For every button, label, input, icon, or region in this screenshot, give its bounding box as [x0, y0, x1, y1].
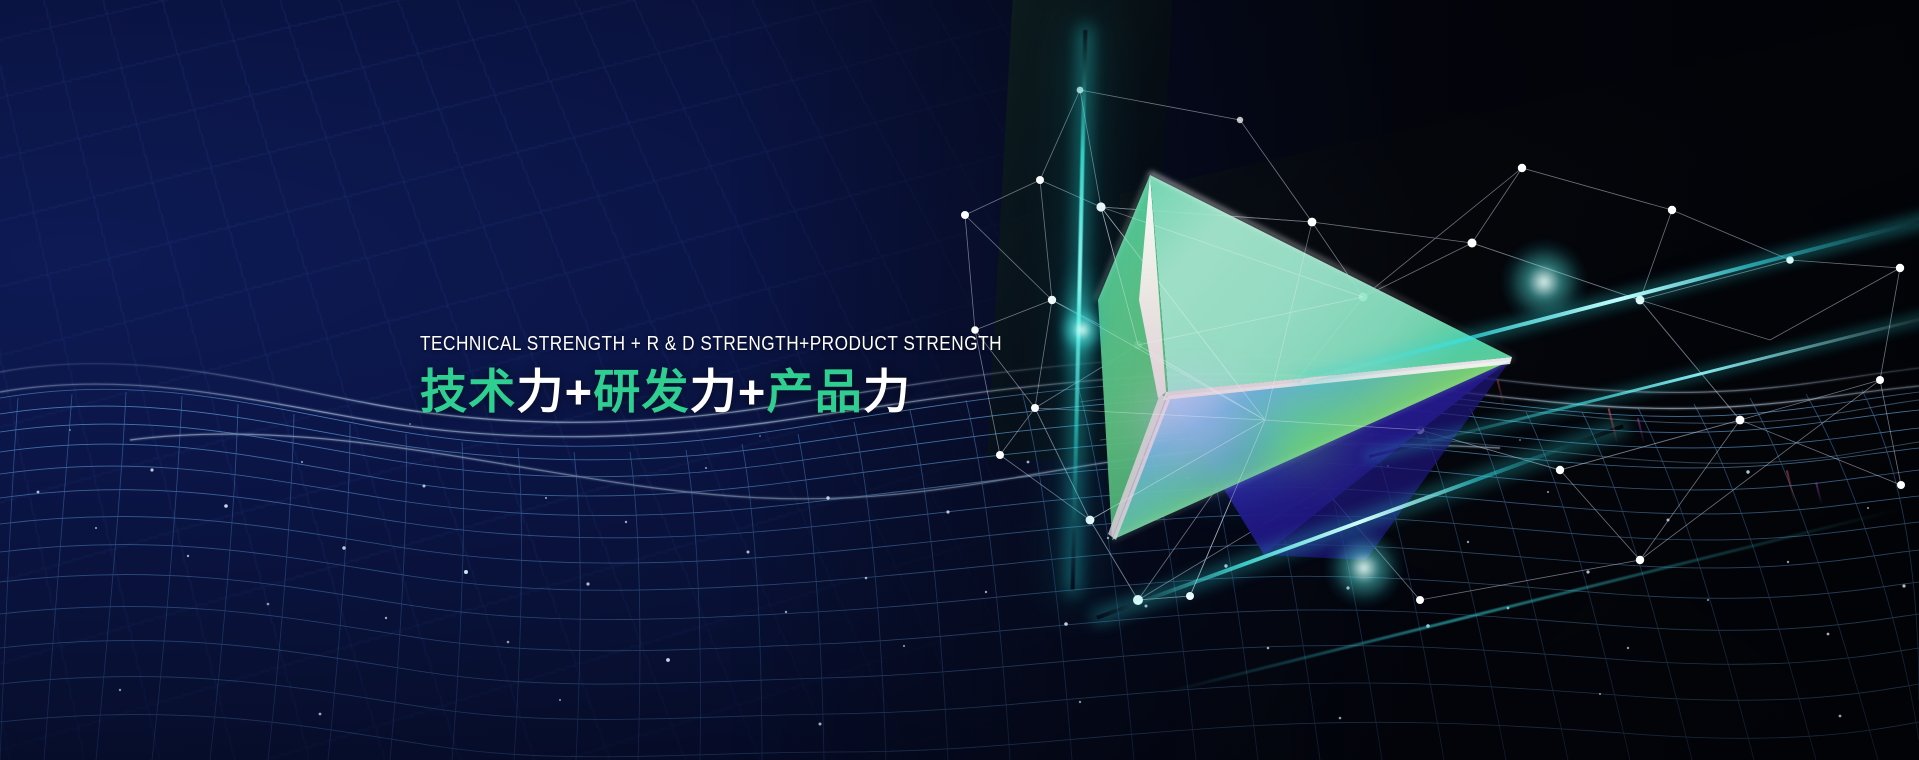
- headline-block: TECHNICAL STRENGTH + R & D STRENGTH+PROD…: [420, 332, 1113, 420]
- title-segment-2: +: [565, 365, 594, 418]
- hero-banner: TECHNICAL STRENGTH + R & D STRENGTH+PROD…: [0, 0, 1919, 760]
- lens-flare-lower-right: [1309, 513, 1419, 623]
- title-segment-4: 力: [690, 365, 738, 418]
- headline-title-chinese: 技术力+研发力+产品力: [420, 363, 1113, 420]
- title-segment-6: 产品: [767, 365, 863, 418]
- headline-eyebrow-english: TECHNICAL STRENGTH + R & D STRENGTH+PROD…: [420, 332, 1002, 356]
- title-segment-5: +: [738, 365, 767, 418]
- title-segment-7: 力: [863, 365, 911, 418]
- title-segment-1: 力: [516, 365, 564, 418]
- lens-flare-upper-right: [1484, 222, 1604, 342]
- title-segment-0: 技术: [420, 365, 516, 418]
- title-segment-3: 研发: [593, 365, 689, 418]
